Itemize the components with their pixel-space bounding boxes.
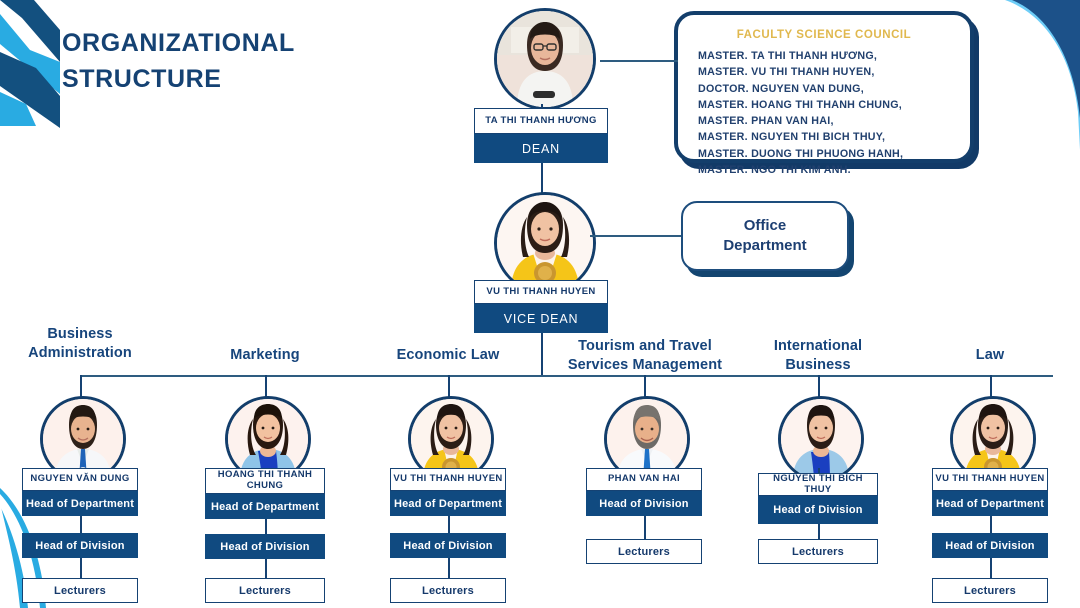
dept5-role-head-of-division: Head of Division [758,496,878,524]
office-department-card: Office Department [681,201,849,271]
connector-dept6-r1-r2 [990,516,992,533]
connector-dept3-r2-lecturers [448,558,450,578]
connector-dept2-r2-lecturers [265,559,267,578]
dept5-lecturers-box: Lecturers [758,539,878,564]
dept-header-line2: Administration [10,344,150,363]
department-header-law: Law [920,346,1060,365]
dept4-photo [607,399,687,479]
connector-dept6-r2-lecturers [990,558,992,578]
connector-busbar-to-dept4 [644,375,646,397]
connector-busbar-to-dept2 [265,375,267,397]
dept1-photo [43,399,123,479]
dept2-lecturers-box: Lecturers [205,578,325,603]
office-department-line1: Office [723,216,806,236]
dept6-role-head-of-division: Head of Division [932,533,1048,558]
council-member-list: MASTER. TA THI THANH HƯƠNG, MASTER. VU T… [698,48,960,178]
dept4-lecturers-box: Lecturers [586,539,702,564]
connector-dept2-r1-r2 [265,519,267,534]
connector-busbar-to-dept3 [448,375,450,397]
dept1-role-head-of-department: Head of Department [22,491,138,516]
dept-header-line1: Business [10,325,150,344]
avatar-vice-dean [494,192,596,294]
dept4-role-head-of-division: Head of Division [586,491,702,516]
connector-dept1-r1-r2 [80,516,82,533]
connector-busbar-to-dept6 [990,375,992,397]
department-header-international-business: International Business [748,337,888,375]
dean-photo [497,11,593,107]
dept4-person-name: PHAN VAN HAI [586,468,702,491]
avatar-dean [494,8,596,110]
vice-dean-role-box: VICE DEAN [474,304,608,333]
dept3-person-name: VU THI THANH HUYEN [390,468,506,491]
list-item: DOCTOR. NGUYEN VAN DUNG, [698,81,960,97]
connector-busbar-to-dept5 [818,375,820,397]
page-title-line2: STRUCTURE [62,62,295,98]
page-title-line1: ORGANIZATIONAL [62,26,295,62]
department-bus-bar [80,375,1053,377]
dept1-role-head-of-division: Head of Division [22,533,138,558]
dept-header-line1: Economic Law [378,346,518,365]
dept3-lecturers-box: Lecturers [390,578,506,603]
dept3-photo [411,399,491,479]
dept-header-line1: International [748,337,888,356]
dept-header-line1: Tourism and Travel [550,337,740,356]
list-item: MASTER. TA THI THANH HƯƠNG, [698,48,960,64]
list-item: MASTER. VU THI THANH HUYEN, [698,64,960,80]
connector-dept5-r1-lecturers [818,524,820,539]
vice-dean-photo [497,195,593,291]
connector-dept3-r1-r2 [448,516,450,533]
list-item: MASTER. NGUYEN THI BICH THUY, [698,129,960,145]
dept5-photo [781,399,861,479]
dept6-role-head-of-department: Head of Department [932,491,1048,516]
office-department-line2: Department [723,236,806,256]
council-heading: FACULTY SCIENCE COUNCIL [678,29,970,41]
list-item: MASTER. HOANG THI THANH CHUNG, [698,97,960,113]
department-header-business-administration: Business Administration [10,325,150,363]
dept5-person-name: NGUYEN THI BICH THUY [758,473,878,496]
dept3-role-head-of-division: Head of Division [390,533,506,558]
dept1-lecturers-box: Lecturers [22,578,138,603]
list-item: MASTER. NGO THI KIM ANH. [698,162,960,178]
avatar-dept5 [778,396,864,482]
connector-vicedean-to-busbar [541,333,543,375]
dept2-photo [228,399,308,479]
dept-header-line1: Law [920,346,1060,365]
logo-chevron-decoration [0,0,60,130]
dean-role-box: DEAN [474,134,608,163]
dept-header-line1: Marketing [195,346,335,365]
connector-dean-to-council [600,60,678,62]
department-header-marketing: Marketing [195,346,335,365]
dept2-role-head-of-department: Head of Department [205,494,325,519]
dept6-person-name: VU THI THANH HUYEN [932,468,1048,491]
connector-vicedean-to-office [590,235,682,237]
connector-busbar-to-dept1 [80,375,82,397]
dept2-person-name: HOANG THI THANH CHUNG [205,468,325,494]
list-item: MASTER. DUONG THI PHUONG HANH, [698,146,960,162]
slide-canvas: ORGANIZATIONAL STRUCTURE FACULTY SCIENCE… [0,0,1080,608]
dean-name-box: TA THI THANH HƯƠNG [474,108,608,134]
dept6-lecturers-box: Lecturers [932,578,1048,603]
dept-header-line2: Business [748,356,888,375]
page-title: ORGANIZATIONAL STRUCTURE [62,26,295,97]
dept3-role-head-of-department: Head of Department [390,491,506,516]
list-item: MASTER. PHAN VAN HAI, [698,113,960,129]
connector-dept1-r2-lecturers [80,558,82,578]
dept1-person-name: NGUYEN VĂN DUNG [22,468,138,491]
dept2-role-head-of-division: Head of Division [205,534,325,559]
department-header-tourism-travel: Tourism and Travel Services Management [550,337,740,375]
dept6-photo [953,399,1033,479]
department-header-economic-law: Economic Law [378,346,518,365]
vice-dean-name-box: VU THI THANH HUYEN [474,280,608,304]
dept-header-line2: Services Management [550,356,740,375]
connector-dept4-r1-lecturers [644,516,646,539]
faculty-science-council-card: FACULTY SCIENCE COUNCIL MASTER. TA THI T… [674,11,974,163]
